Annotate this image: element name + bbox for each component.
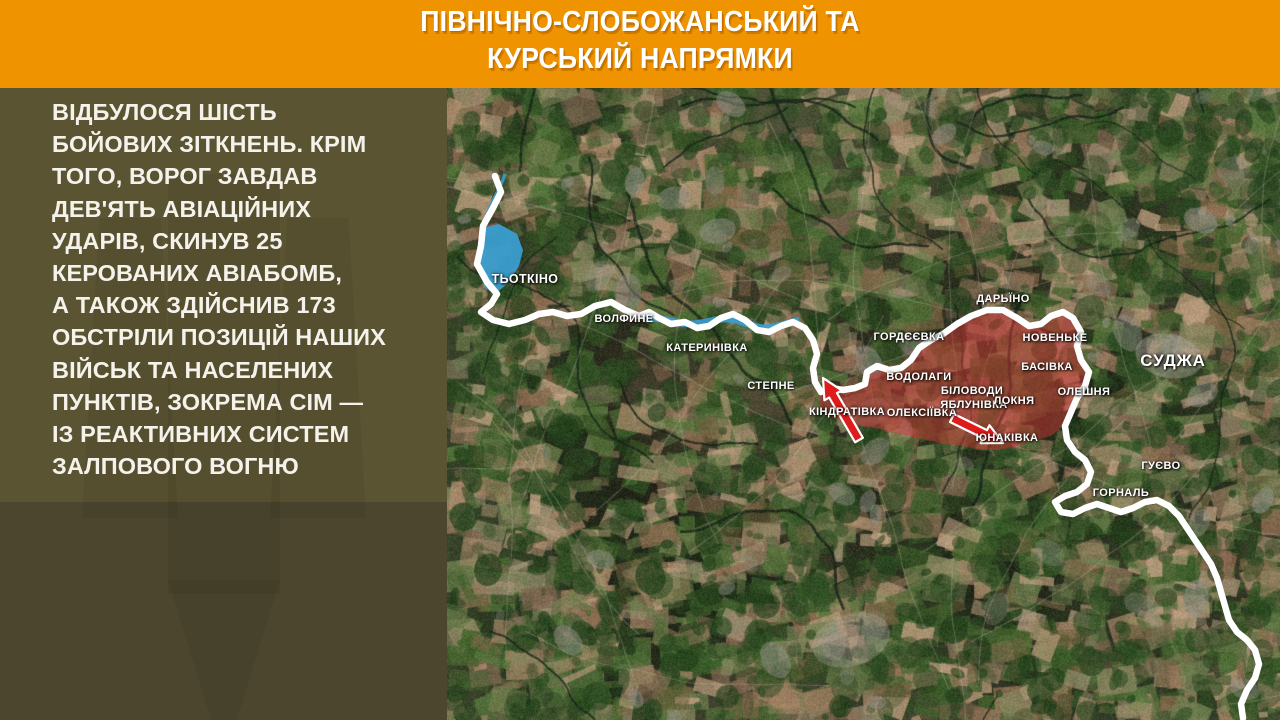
map-overlay-vectors (447, 88, 1280, 720)
header-banner: ПІВНІЧНО-СЛОБОЖАНСЬКИЙ ТА КУРСЬКИЙ НАПРЯ… (0, 0, 1280, 88)
water-layer (477, 174, 799, 328)
map-area[interactable]: ТЬОТКІНОВОЛФИНЕКАТЕРИНІВКАСТЕПНЕКІНДРАТІ… (447, 88, 1280, 720)
border-line (477, 176, 1259, 718)
page-title: ПІВНІЧНО-СЛОБОЖАНСЬКИЙ ТА КУРСЬКИЙ НАПРЯ… (51, 4, 1229, 78)
summary-panel: ВІДБУЛОСЯ ШІСТЬ БОЙОВИХ ЗІТКНЕНЬ. КРІМ Т… (0, 88, 447, 720)
state-border-line (477, 176, 1259, 718)
infographic-root: ПІВНІЧНО-СЛОБОЖАНСЬКИЙ ТА КУРСЬКИЙ НАПРЯ… (0, 0, 1280, 720)
summary-text: ВІДБУЛОСЯ ШІСТЬ БОЙОВИХ ЗІТКНЕНЬ. КРІМ Т… (52, 96, 434, 482)
controlled-zone-fill (819, 310, 1087, 450)
controlled-zone-layer (819, 310, 1087, 450)
